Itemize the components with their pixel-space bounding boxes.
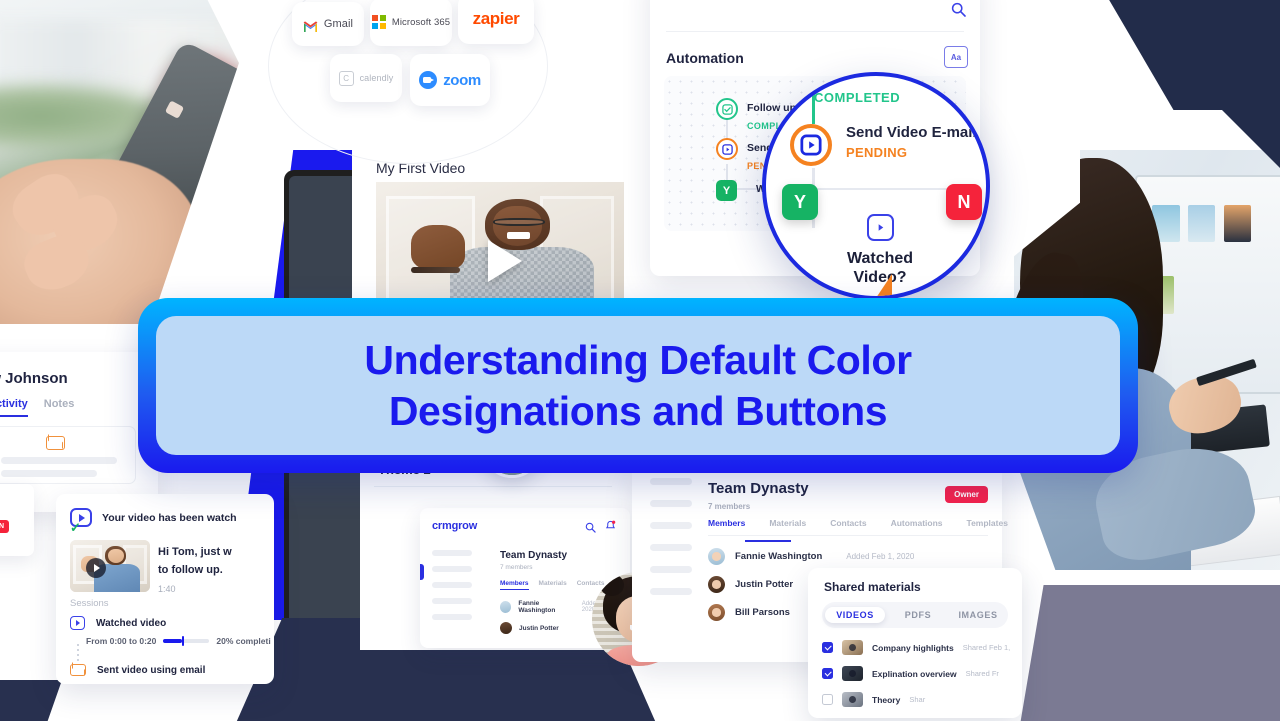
shared-materials-panel: Shared materials VIDEOS PDFS IMAGES Comp… [808,568,1022,718]
thumbnail-canvas: My First Video Gmail [0,0,1280,721]
check-circle-icon [716,98,738,120]
session-event-watched: Watched video [70,616,166,630]
status-badge-owner: Owner [945,486,988,503]
magnified-flow-node[interactable]: Send Video E-mail PENDING [790,124,977,166]
bell-icon[interactable] [605,519,616,531]
zoom-icon [419,71,437,89]
contact-tabs: Activity Notes [0,398,74,417]
notification-title: Your video has been watch [102,512,237,524]
material-name: Explination overview [872,669,957,679]
message-line-1: Hi Tom, just w [158,546,232,558]
table-row[interactable]: Justin Potter [708,576,793,593]
tab-members[interactable]: Members [708,518,745,528]
video-notification-card: Your video has been watch ✓ Hi Tom, just… [56,494,274,684]
event-label: Watched video [96,618,166,629]
theme2-panel: Theme 2 crmgrow Team Dynasty 7 members M… [360,450,622,650]
integration-calendly[interactable]: C calendly [330,54,402,102]
decision-label: Watched [847,250,913,267]
avatar [708,548,725,565]
team-title: Team Dynasty [708,480,809,497]
magnified-node-status: PENDING [846,145,977,160]
avatar [500,601,511,613]
tab-images[interactable]: IMAGES [948,610,1008,620]
message-line-2: to follow up. [158,564,223,576]
tab-materials[interactable]: Materials [539,580,567,590]
progress-text: 20% completi [216,636,270,646]
crmgrow-logo: crmgrow [432,520,477,532]
avatar [708,604,725,621]
progress-bar [163,639,209,643]
table-row[interactable]: Fannie Washington Added Feb 1, 2020 [708,548,914,565]
zapier-wordmark: zapier [473,9,520,29]
magnified-completed-status: COMPLETED [814,90,900,105]
gray-shape-bottom-right [1020,585,1280,721]
tab-contacts[interactable]: Contacts [830,518,866,528]
table-row[interactable]: Company highlights Shared Feb 1, [822,640,1010,655]
check-icon: ✓ [70,520,81,536]
text-format-button[interactable]: Aa [944,46,968,68]
watch-range: From 0:00 to 0:20 [86,636,156,646]
shared-materials-tabs: VIDEOS PDFS IMAGES [822,602,1008,628]
member-name: Fannie Washington [735,551,822,562]
navy-shape-bottom-left [0,680,62,721]
material-date: Shar [909,695,925,704]
magnifier-zoom-circle: COMPLETED Send Video E-mail PENDING Y N … [762,72,990,300]
integration-label: calendly [360,73,394,83]
team-sidebar-skeleton [650,478,692,610]
video-duration: 1:40 [158,584,268,594]
member-name: Bill Parsons [735,607,790,618]
watch-progress: From 0:00 to 0:20 20% completi [86,636,274,646]
material-name: Company highlights [872,643,954,653]
page-title-line-2: Designations and Buttons [389,387,887,435]
checkbox[interactable] [822,694,833,705]
material-date: Shared Fr [966,669,999,678]
integration-zoom[interactable]: zoom [410,54,490,106]
tab-members[interactable]: Members [500,580,529,590]
table-row[interactable]: Explination overview Shared Fr [822,666,999,681]
session-event-sent: Sent video using email [70,664,205,676]
member-name: Justin Potter [519,625,559,632]
tab-materials[interactable]: Materials [769,518,806,528]
timeline-connector [77,644,79,662]
flow-branch-connector [812,188,962,190]
video-play-icon [716,138,738,160]
partial-left-card: mail deo? N [0,484,34,556]
avatar [708,576,725,593]
team-tabs: Members Materials Contacts Automations T… [708,518,988,536]
sessions-label: Sessions [70,598,109,609]
search-icon[interactable] [951,2,966,17]
page-title-line-1: Understanding Default Color [364,336,911,384]
video-thumbnail [842,666,863,681]
notification-message: Hi Tom, just w to follow up. 1:40 [158,542,268,594]
list-item[interactable]: Justin Potter [500,622,559,634]
navy-shape-top-right-2 [1108,0,1280,110]
tab-videos[interactable]: VIDEOS [825,607,885,623]
mail-icon [46,436,65,450]
tab-activity[interactable]: Activity [0,398,28,417]
material-date: Shared Feb 1, [963,643,1011,652]
branch-yes-button[interactable]: Y [782,184,818,220]
member-name: Fannie Washington [518,600,574,614]
branch-no-button[interactable]: N [0,520,9,533]
shared-materials-title: Shared materials [824,580,921,594]
integration-label: Microsoft 365 [392,17,450,28]
integration-microsoft-365[interactable]: Microsoft 365 [370,0,452,46]
branch-no-button[interactable]: N [946,184,982,220]
video-thumbnail[interactable] [70,540,150,592]
checkbox[interactable] [822,642,833,653]
material-name: Theory [872,695,900,705]
member-date: Added Feb 1, 2020 [846,552,914,561]
automation-title: Automation [666,50,744,66]
panel-top-divider [666,2,964,32]
avatar [500,622,512,634]
crm-members-count: 7 members [500,564,533,571]
title-banner: Understanding Default Color Designations… [138,298,1138,473]
title-banner-inner: Understanding Default Color Designations… [156,316,1120,455]
play-icon [70,616,85,630]
integration-label: zoom [443,72,481,89]
tab-notes[interactable]: Notes [44,398,75,417]
tab-automations[interactable]: Automations [891,518,943,528]
play-icon[interactable] [86,558,106,578]
play-icon[interactable] [488,240,522,282]
contact-name: Andrew Johnson [0,370,68,387]
microsoft-icon [372,15,386,29]
video-play-icon [867,214,894,241]
branch-yes-button[interactable]: Y [716,180,737,201]
video-thumbnail [842,640,863,655]
search-icon[interactable] [585,520,596,531]
video-play-icon [790,124,832,166]
calendly-icon: C [339,71,354,86]
gmail-icon [303,19,318,30]
notification-header: Your video has been watch [70,508,237,527]
checkbox[interactable] [822,668,833,679]
tab-pdfs[interactable]: PDFS [888,610,948,620]
table-row[interactable]: Bill Parsons [708,604,790,621]
event-label: Sent video using email [97,665,205,676]
video-thumbnail [842,692,863,707]
integration-zapier[interactable]: zapier [458,0,534,44]
integration-gmail[interactable]: Gmail [292,2,364,46]
activity-item-card[interactable] [0,426,136,484]
tab-templates[interactable]: Templates [967,518,1008,528]
magnified-node-title: Send Video E-mail [846,124,977,141]
divider [374,486,612,487]
member-name: Justin Potter [735,579,793,590]
mail-icon [70,664,86,676]
crm-team-name: Team Dynasty [500,550,567,561]
team-members-count: 7 members [708,502,750,511]
integration-label: Gmail [324,18,353,30]
table-row[interactable]: Theory Shar [822,692,925,707]
integrations-card: Gmail Microsoft 365 zapier C calendly zo… [268,0,558,152]
orange-arrow-icon [870,268,904,300]
